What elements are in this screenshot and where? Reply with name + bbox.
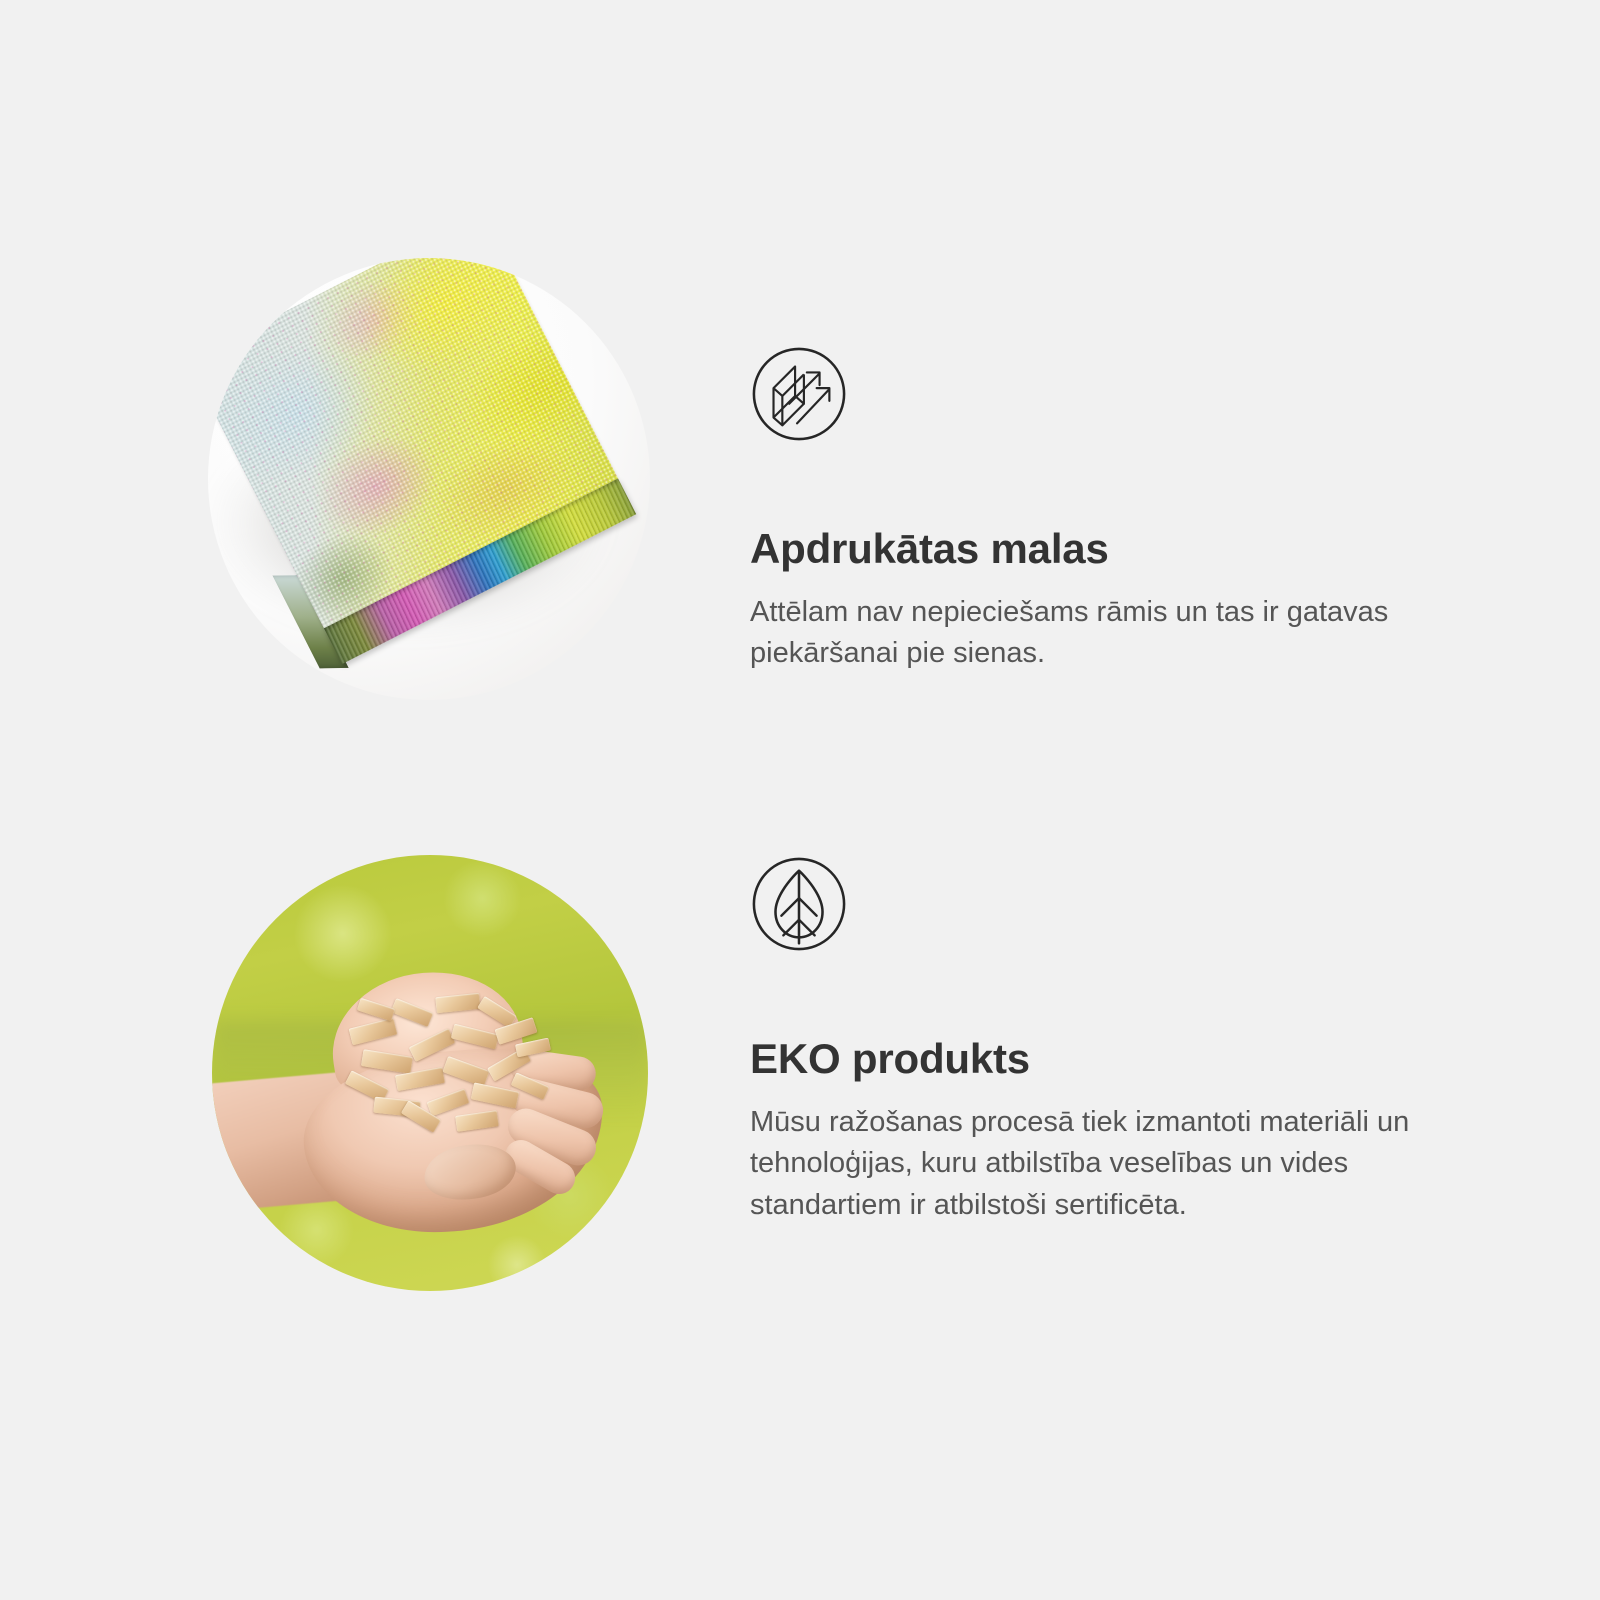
wood-chip — [451, 1024, 499, 1050]
wood-chip — [455, 1110, 499, 1132]
feature-1-title: Apdrukātas malas — [750, 526, 1450, 572]
feature-list-page: Apdrukātas malas Attēlam nav nepieciešam… — [0, 0, 1600, 1600]
wood-chips — [340, 983, 590, 1133]
wood-chip — [435, 993, 480, 1014]
wood-chip — [361, 1049, 413, 1074]
wood-chip — [515, 1038, 551, 1058]
wood-chip — [349, 1018, 398, 1046]
feature-2-content: EKO produkts Mūsu ražošanas procesā tiek… — [750, 855, 1470, 1226]
hands-holding-wood-chips-photo — [212, 855, 648, 1291]
feature-2-description: Mūsu ražošanas procesā tiek izmantoti ma… — [750, 1102, 1440, 1226]
leaf-icon — [750, 855, 848, 953]
feature-2-title: EKO produkts — [750, 1036, 1470, 1082]
wood-chip — [471, 1082, 520, 1108]
wood-chip — [442, 1056, 489, 1087]
canvas-corner-photo — [208, 258, 650, 700]
feature-1-description: Attēlam nav nepieciešams rāmis un tas ir… — [750, 592, 1440, 674]
wood-chip — [357, 998, 395, 1021]
canvas-printed-edges-icon — [750, 345, 848, 443]
wood-chip — [391, 998, 434, 1027]
feature-1-content: Apdrukātas malas Attēlam nav nepieciešam… — [750, 345, 1450, 675]
wood-chip — [427, 1089, 470, 1117]
